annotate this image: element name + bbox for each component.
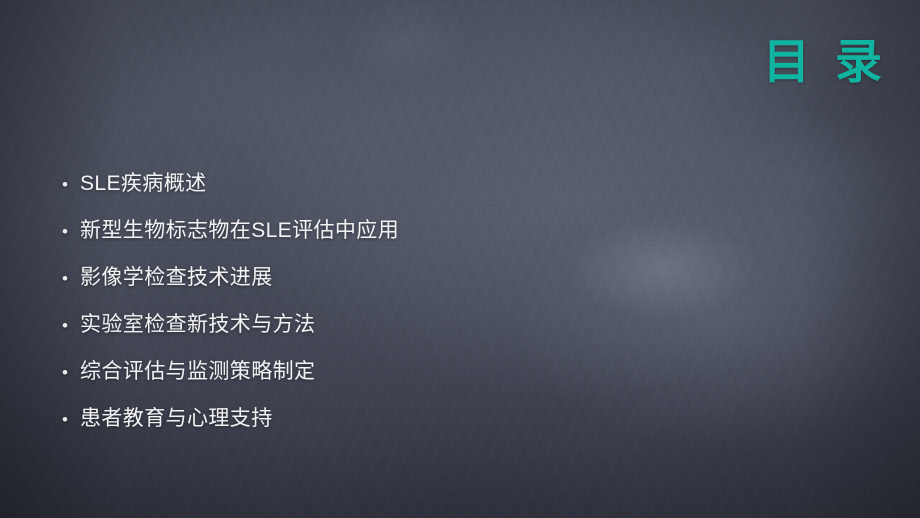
bullet-icon: •	[62, 302, 80, 349]
list-item[interactable]: • 新型生物标志物在SLE评估中应用	[62, 207, 662, 254]
slide-title: 目 录	[763, 38, 888, 85]
list-item[interactable]: • 影像学检查技术进展	[62, 254, 662, 301]
list-item[interactable]: • 实验室检查新技术与方法	[62, 301, 662, 348]
list-item[interactable]: • SLE疾病概述	[62, 160, 662, 207]
presentation-slide: 目 录 • SLE疾病概述 • 新型生物标志物在SLE评估中应用 • 影像学检查…	[0, 0, 920, 518]
bullet-icon: •	[62, 161, 80, 208]
list-item-label: 综合评估与监测策略制定	[80, 348, 315, 395]
list-item-label: SLE疾病概述	[80, 160, 207, 207]
list-item-label: 新型生物标志物在SLE评估中应用	[80, 207, 399, 254]
list-item-label: 实验室检查新技术与方法	[80, 301, 315, 348]
bullet-icon: •	[62, 208, 80, 255]
list-item[interactable]: • 综合评估与监测策略制定	[62, 348, 662, 395]
table-of-contents-list: • SLE疾病概述 • 新型生物标志物在SLE评估中应用 • 影像学检查技术进展…	[62, 160, 662, 442]
bullet-icon: •	[62, 396, 80, 443]
bullet-icon: •	[62, 349, 80, 396]
bullet-icon: •	[62, 255, 80, 302]
list-item-label: 患者教育与心理支持	[80, 395, 273, 442]
list-item[interactable]: • 患者教育与心理支持	[62, 395, 662, 442]
list-item-label: 影像学检查技术进展	[80, 254, 273, 301]
